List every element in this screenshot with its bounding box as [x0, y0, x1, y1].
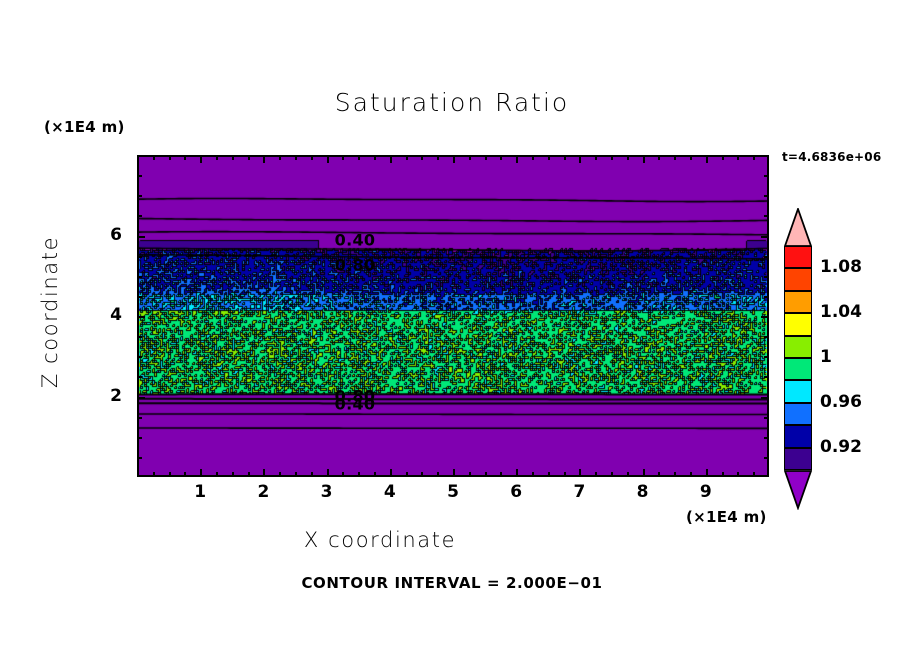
colorbar-band[interactable] [784, 448, 812, 470]
x-tick [579, 155, 581, 163]
y-tick [764, 336, 769, 338]
chart-title: Saturation Ratio [0, 88, 904, 117]
x-tick [564, 472, 566, 477]
y-tick [137, 256, 142, 258]
x-tick [358, 472, 360, 477]
x-tick [674, 472, 676, 477]
contour-plot-area[interactable] [137, 155, 769, 477]
x-tick [153, 472, 155, 477]
colorbar-bottom-arrow [784, 470, 812, 510]
x-tick [722, 472, 724, 477]
x-tick [184, 155, 186, 160]
x-tick [627, 155, 629, 160]
colorbar-band[interactable] [784, 291, 812, 313]
x-axis-title: X coordinate [0, 528, 760, 552]
x-tick-label: 9 [691, 482, 721, 502]
x-tick [279, 472, 281, 477]
x-tick [469, 155, 471, 160]
x-tick [406, 155, 408, 160]
colorbar-band[interactable] [784, 313, 812, 335]
y-tick [137, 417, 142, 419]
y-tick [761, 316, 769, 318]
x-tick [263, 469, 265, 477]
x-tick [706, 469, 708, 477]
x-tick [611, 472, 613, 477]
x-tick [232, 472, 234, 477]
y-tick [137, 457, 142, 459]
y-tick-label: 2 [96, 386, 122, 406]
y-tick [764, 195, 769, 197]
x-tick-label: 5 [438, 482, 468, 502]
x-tick [327, 155, 329, 163]
x-tick [421, 155, 423, 160]
colorbar-tick-label: 0.92 [820, 437, 862, 457]
x-tick [390, 155, 392, 163]
x-tick [753, 472, 755, 477]
y-tick [764, 437, 769, 439]
x-tick [406, 472, 408, 477]
x-tick [295, 472, 297, 477]
x-tick [643, 155, 645, 163]
colorbar-top-arrow [784, 208, 812, 248]
x-tick [516, 469, 518, 477]
x-tick [611, 155, 613, 160]
y-tick [761, 236, 769, 238]
x-tick [311, 472, 313, 477]
x-tick [532, 472, 534, 477]
colorbar-tick-label: 1.08 [820, 257, 862, 277]
x-tick [169, 155, 171, 160]
x-tick [374, 155, 376, 160]
colorbar-band[interactable] [784, 403, 812, 425]
contour-field-canvas [139, 157, 767, 475]
x-tick [421, 472, 423, 477]
x-tick [737, 155, 739, 160]
contour-level-label: 0.40 [335, 395, 376, 414]
colorbar-band[interactable] [784, 336, 812, 358]
x-tick [216, 472, 218, 477]
x-tick [690, 155, 692, 160]
contour-level-label: 0.80 [335, 256, 376, 275]
x-tick [453, 469, 455, 477]
x-tick [532, 155, 534, 160]
y-tick [764, 175, 769, 177]
y-tick [764, 457, 769, 459]
colorbar[interactable]: 1.081.0410.960.92 [784, 208, 812, 510]
x-tick [500, 155, 502, 160]
x-tick [263, 155, 265, 163]
x-tick [485, 472, 487, 477]
x-tick [548, 472, 550, 477]
x-tick [327, 469, 329, 477]
x-tick-label: 2 [248, 482, 278, 502]
y-tick [137, 336, 142, 338]
y-tick-label: 6 [96, 225, 122, 245]
colorbar-band[interactable] [784, 425, 812, 447]
x-tick [722, 155, 724, 160]
x-tick [342, 472, 344, 477]
y-tick [764, 417, 769, 419]
x-tick [595, 472, 597, 477]
colorbar-band[interactable] [784, 246, 812, 268]
x-tick [342, 155, 344, 160]
x-tick [153, 155, 155, 160]
y-tick [137, 175, 142, 177]
x-tick-label: 4 [375, 482, 405, 502]
x-tick [453, 155, 455, 163]
y-tick [137, 296, 142, 298]
x-tick-label: 1 [185, 482, 215, 502]
y-tick [764, 256, 769, 258]
x-axis-unit-label: (×1E4 m) [686, 508, 767, 526]
y-tick [764, 276, 769, 278]
x-tick [516, 155, 518, 163]
z-axis-unit-label: (×1E4 m) [44, 118, 125, 136]
x-tick [753, 155, 755, 160]
x-tick [643, 469, 645, 477]
x-tick [311, 155, 313, 160]
y-tick [761, 397, 769, 399]
x-tick [658, 472, 660, 477]
y-tick [137, 376, 142, 378]
colorbar-band[interactable] [784, 358, 812, 380]
y-tick [137, 316, 145, 318]
x-tick [485, 155, 487, 160]
x-tick [374, 472, 376, 477]
x-tick [200, 155, 202, 163]
y-tick [764, 376, 769, 378]
x-tick [564, 155, 566, 160]
x-tick [674, 155, 676, 160]
x-tick [737, 472, 739, 477]
x-tick [184, 472, 186, 477]
x-tick [248, 472, 250, 477]
x-tick [706, 155, 708, 163]
x-tick-label: 7 [564, 482, 594, 502]
x-tick [248, 155, 250, 160]
colorbar-band[interactable] [784, 268, 812, 290]
y-tick [137, 236, 145, 238]
y-axis-title: Z coordinate [38, 202, 62, 422]
x-tick [658, 155, 660, 160]
x-tick [437, 155, 439, 160]
x-tick [548, 155, 550, 160]
x-tick [579, 469, 581, 477]
x-tick [279, 155, 281, 160]
y-tick-label: 4 [96, 305, 122, 325]
y-tick [764, 296, 769, 298]
x-tick-label: 6 [501, 482, 531, 502]
colorbar-band[interactable] [784, 380, 812, 402]
x-tick [690, 472, 692, 477]
x-tick [390, 469, 392, 477]
y-tick [137, 437, 142, 439]
contour-interval-caption: CONTOUR INTERVAL = 2.000E−01 [0, 574, 904, 592]
y-tick [764, 215, 769, 217]
time-annotation: t=4.6836e+06 [782, 150, 881, 164]
y-tick [137, 215, 142, 217]
y-tick [137, 356, 142, 358]
colorbar-tick-label: 1 [820, 347, 832, 367]
y-tick [137, 276, 142, 278]
x-tick [169, 472, 171, 477]
x-tick [469, 472, 471, 477]
x-tick [500, 472, 502, 477]
x-tick [200, 469, 202, 477]
x-tick [358, 155, 360, 160]
y-tick [137, 195, 142, 197]
x-tick [232, 155, 234, 160]
x-tick [595, 155, 597, 160]
contour-level-label: 0.40 [335, 231, 376, 250]
colorbar-tick-label: 0.96 [820, 392, 862, 412]
colorbar-tick-label: 1.04 [820, 302, 862, 322]
x-tick [295, 155, 297, 160]
x-tick [627, 472, 629, 477]
x-tick-label: 8 [628, 482, 658, 502]
y-tick [137, 397, 145, 399]
x-tick [437, 472, 439, 477]
x-tick-label: 3 [312, 482, 342, 502]
y-tick [764, 356, 769, 358]
x-tick [216, 155, 218, 160]
